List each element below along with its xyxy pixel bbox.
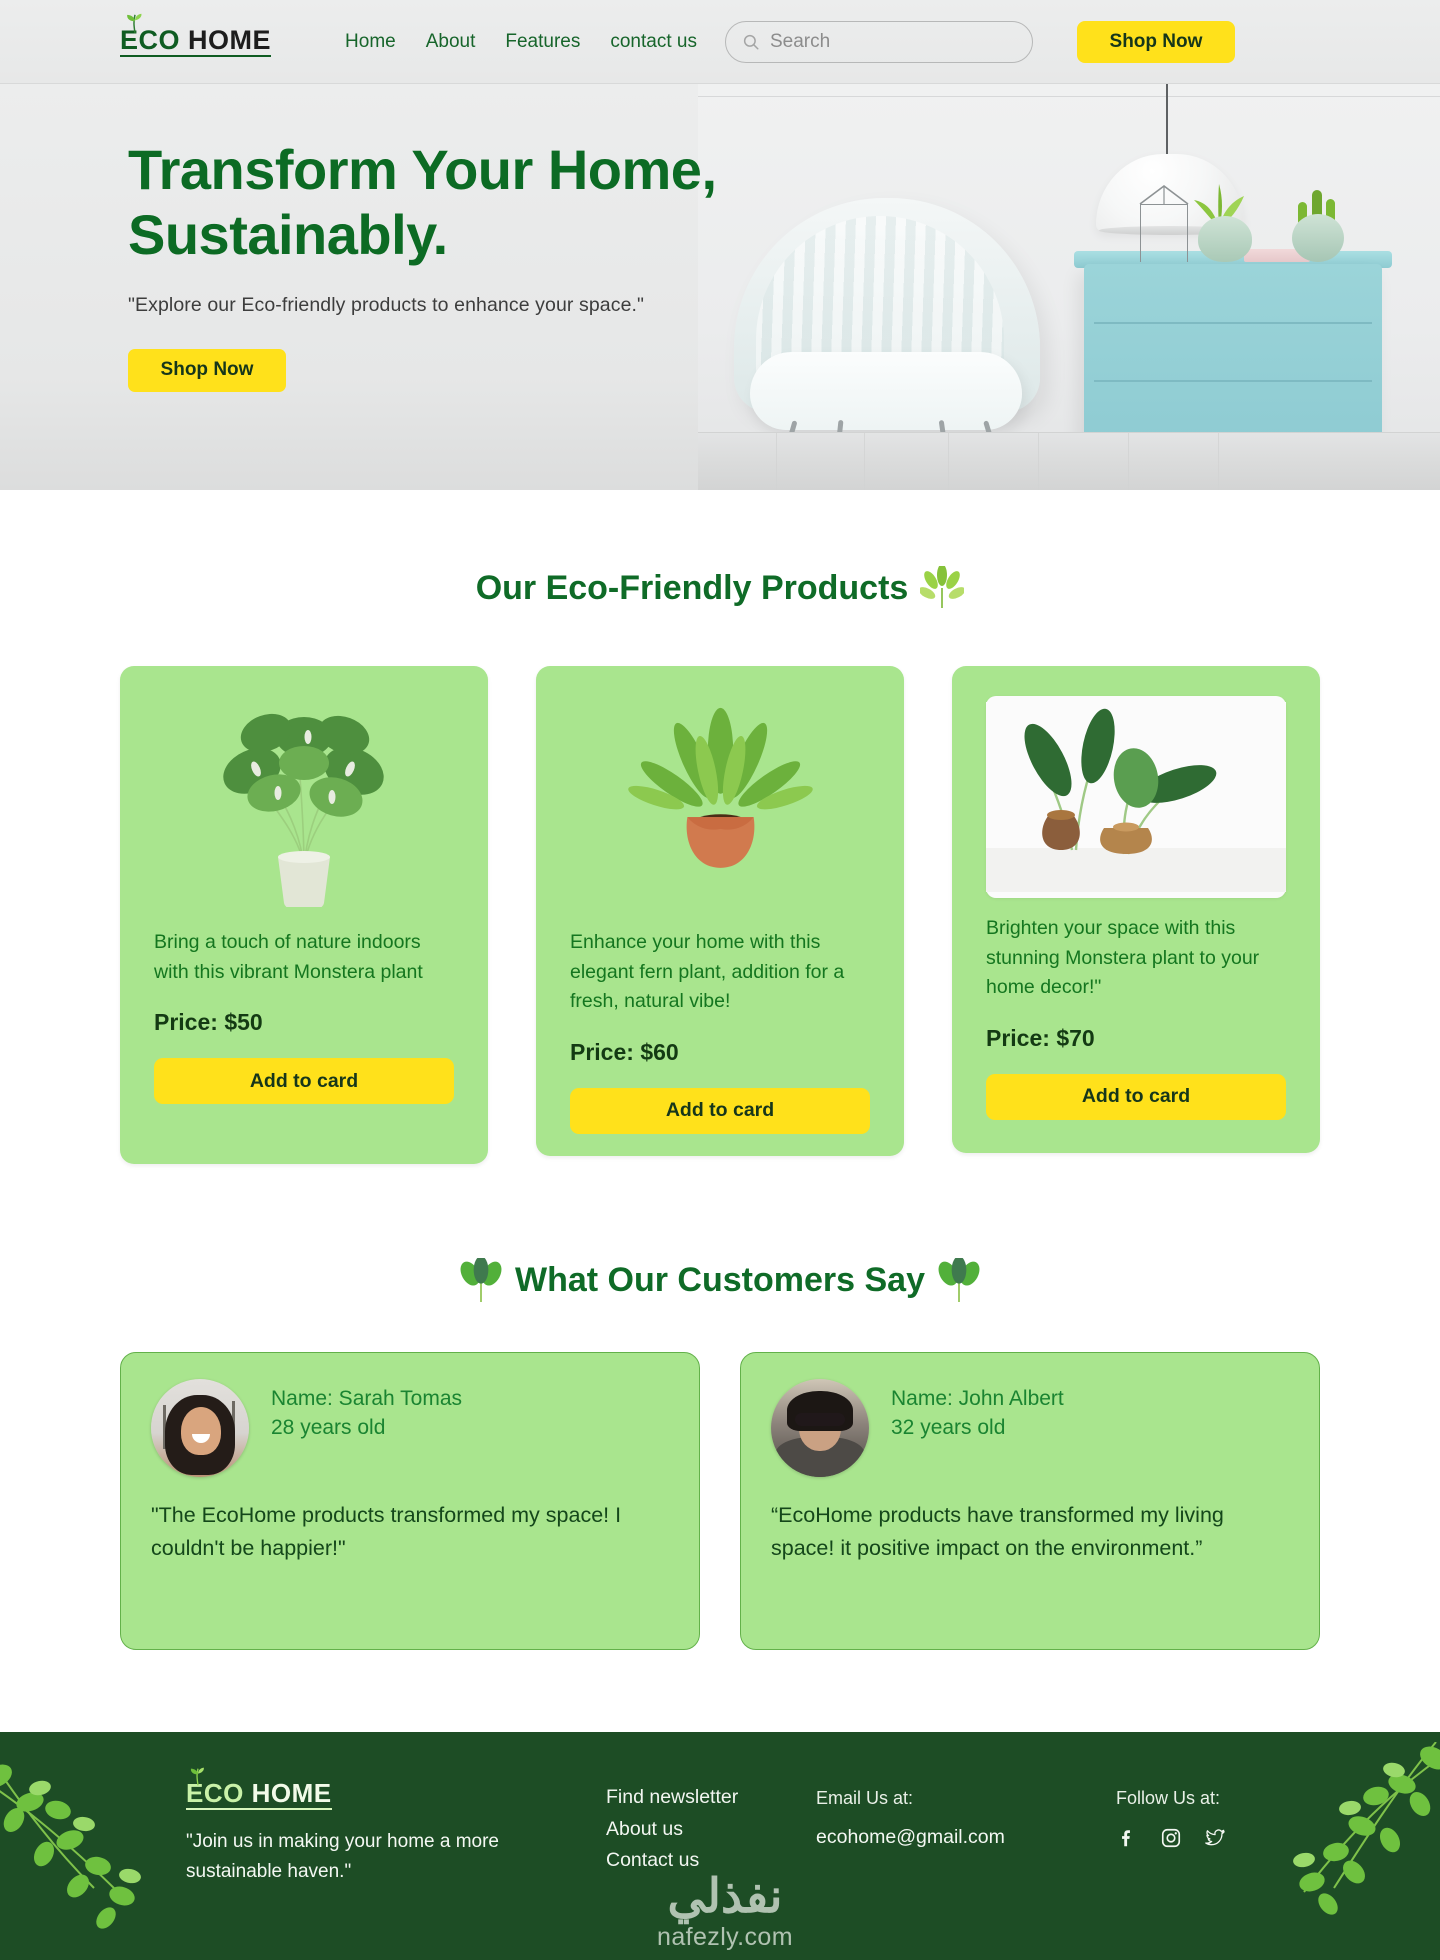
leaf-sprout-icon — [188, 1767, 208, 1787]
testimonial-header: Name: Sarah Tomas 28 years old — [151, 1379, 669, 1477]
product-price: Price: $70 — [986, 1025, 1286, 1052]
product-card[interactable]: Brighten your space with this stunning M… — [952, 666, 1320, 1153]
product-description: Enhance your home with this elegant fern… — [570, 928, 870, 1017]
footer-link-find-newsletter[interactable]: Find newsletter — [606, 1782, 816, 1814]
testimonials-heading: What Our Customers Say — [0, 1258, 1440, 1302]
wall-line — [698, 96, 1440, 97]
product-card-list: Bring a touch of nature indoors with thi… — [0, 666, 1440, 1164]
hero-copy: Transform Your Home, Sustainably. "Explo… — [128, 138, 717, 392]
testimonial-quote: "The EcoHome products transformed my spa… — [151, 1499, 669, 1564]
two-plants-wooden-vases-illustration — [986, 702, 1286, 892]
leaf-sprig-icon — [459, 1258, 503, 1302]
drawer-line — [1094, 322, 1372, 324]
testimonial-meta: Name: Sarah Tomas 28 years old — [271, 1379, 462, 1443]
watermark-arabic: نفذلي — [620, 1874, 830, 1919]
five-leaf-plant-icon — [920, 566, 964, 610]
nav-item-features[interactable]: Features — [505, 31, 580, 53]
leaf-sprig-icon — [937, 1258, 981, 1302]
footer-logo[interactable]: ECO HOME — [186, 1780, 332, 1810]
testimonial-card: Name: Sarah Tomas 28 years old "The EcoH… — [120, 1352, 700, 1650]
add-to-card-button[interactable]: Add to card — [570, 1088, 870, 1134]
testimonial-age: 32 years old — [891, 1414, 1064, 1443]
footer-tagline: "Join us in making your home a more sust… — [186, 1827, 586, 1886]
hero-title-line-2: Sustainably. — [128, 203, 717, 268]
sunglasses-icon — [795, 1413, 845, 1426]
testimonial-age: 28 years old — [271, 1414, 462, 1443]
nav-links: Home About Features contact us — [345, 31, 697, 53]
footer-link-about-us[interactable]: About us — [606, 1814, 816, 1846]
footer-brand: ECO HOME "Join us in making your home a … — [186, 1780, 606, 1886]
nav-item-home[interactable]: Home — [345, 31, 396, 53]
add-to-card-button[interactable]: Add to card — [154, 1058, 454, 1104]
product-card[interactable]: Enhance your home with this elegant fern… — [536, 666, 904, 1156]
testimonials-heading-text: What Our Customers Say — [515, 1261, 925, 1300]
watermark-nafezly: نفذلي nafezly.com — [620, 1874, 830, 1952]
footer-email-label: Email Us at: — [816, 1788, 1116, 1809]
monstera-plant-illustration — [204, 697, 404, 907]
testimonial-name: Name: John Albert — [891, 1385, 1064, 1414]
lamp-cord — [1166, 84, 1168, 156]
testimonials-section: What Our Customers Say — [0, 1258, 1440, 1650]
product-price: Price: $50 — [154, 1009, 454, 1036]
hero-title: Transform Your Home, Sustainably. — [128, 138, 717, 268]
logo-home: HOME — [188, 25, 271, 55]
nav-shop-now-button[interactable]: Shop Now — [1077, 21, 1235, 63]
watermark-latin: nafezly.com — [620, 1923, 830, 1952]
hero-title-line-1: Transform Your Home, — [128, 138, 717, 203]
products-section: Our Eco-Friendly Products — [0, 490, 1440, 1164]
twitter-icon[interactable] — [1204, 1827, 1226, 1849]
plant-pot — [1292, 214, 1344, 262]
hero-image-living-room — [698, 84, 1440, 490]
plant-pot — [1198, 216, 1252, 262]
hero-shop-now-button[interactable]: Shop Now — [128, 349, 286, 392]
footer-logo-home: HOME — [252, 1778, 332, 1808]
search-input[interactable] — [770, 31, 1016, 53]
product-image-monstera — [154, 692, 454, 912]
fern-plant-illustration — [623, 700, 818, 905]
footer-content: ECO HOME "Join us in making your home a … — [0, 1732, 1440, 1886]
product-description: Bring a touch of nature indoors with thi… — [154, 928, 454, 987]
testimonial-card: Name: John Albert 32 years old “EcoHome … — [740, 1352, 1320, 1650]
nav-item-contact-us[interactable]: contact us — [610, 31, 697, 53]
testimonial-quote: “EcoHome products have transformed my li… — [771, 1499, 1289, 1564]
testimonial-header: Name: John Albert 32 years old — [771, 1379, 1289, 1477]
facebook-icon[interactable] — [1116, 1827, 1138, 1849]
blue-dresser — [1084, 264, 1382, 450]
nav-item-about[interactable]: About — [426, 31, 476, 53]
drawer-line — [1094, 380, 1372, 382]
armchair-seat — [750, 352, 1022, 430]
avatar — [771, 1379, 869, 1477]
social-icon-row — [1116, 1827, 1226, 1849]
instagram-icon[interactable] — [1160, 1827, 1182, 1849]
product-image-fern — [570, 692, 870, 912]
footer-email-address[interactable]: ecohome@gmail.com — [816, 1826, 1116, 1849]
hero-subtitle: "Explore our Eco-friendly products to en… — [128, 294, 717, 317]
floor — [698, 432, 1440, 490]
page-root: ECO HOME Home About Features contact us … — [0, 0, 1440, 1960]
footer: ECO HOME "Join us in making your home a … — [0, 1732, 1440, 1960]
product-image-wooden-vases — [986, 696, 1286, 898]
footer-social-block: Follow Us at: — [1116, 1780, 1226, 1886]
avatar — [151, 1379, 249, 1477]
products-heading-text: Our Eco-Friendly Products — [476, 569, 909, 608]
hero-section: Transform Your Home, Sustainably. "Explo… — [0, 84, 1440, 490]
search-box[interactable] — [725, 21, 1033, 63]
testimonial-card-list: Name: Sarah Tomas 28 years old "The EcoH… — [0, 1352, 1440, 1650]
leaf-sprout-icon — [124, 13, 146, 35]
wire-house-frame — [1140, 204, 1188, 262]
testimonial-name: Name: Sarah Tomas — [271, 1385, 462, 1414]
products-heading: Our Eco-Friendly Products — [0, 566, 1440, 610]
avatar-face — [181, 1407, 221, 1455]
white-pot — [278, 857, 330, 907]
add-to-card-button[interactable]: Add to card — [986, 1074, 1286, 1120]
footer-email-block: Email Us at: ecohome@gmail.com — [816, 1780, 1116, 1886]
search-icon — [742, 33, 760, 51]
site-logo[interactable]: ECO HOME — [120, 26, 271, 57]
product-card[interactable]: Bring a touch of nature indoors with thi… — [120, 666, 488, 1164]
product-price: Price: $60 — [570, 1039, 870, 1066]
testimonial-meta: Name: John Albert 32 years old — [891, 1379, 1064, 1443]
product-description: Brighten your space with this stunning M… — [986, 914, 1286, 1003]
footer-social-label: Follow Us at: — [1116, 1788, 1226, 1809]
navbar: ECO HOME Home About Features contact us … — [0, 0, 1440, 84]
